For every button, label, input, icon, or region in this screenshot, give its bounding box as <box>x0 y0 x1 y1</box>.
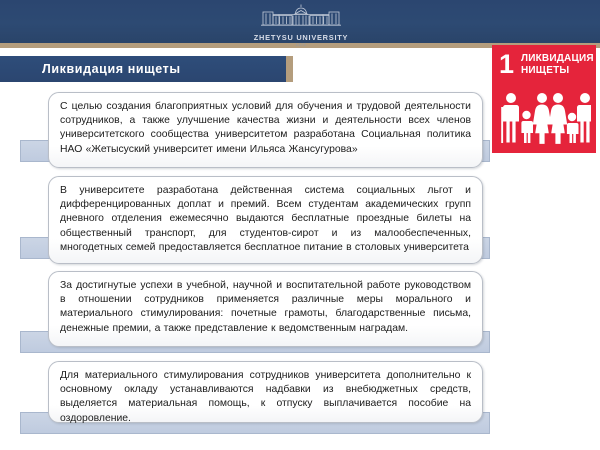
content-card: За достигнутые успехи в учебной, научной… <box>48 271 483 347</box>
content-card-text: Для материального стимулирования сотрудн… <box>60 369 471 426</box>
content-card-text: В университете разработана действенная с… <box>60 184 471 255</box>
university-logo: ZHETYSU UNIVERSITY 1972 <box>249 3 353 43</box>
title-bar-accent <box>286 56 293 82</box>
logo-year: 1972 <box>249 43 353 47</box>
sdg-label: ЛИКВИДАЦИЯ НИЩЕТЫ <box>521 53 594 76</box>
content-card: В университете разработана действенная с… <box>48 176 483 264</box>
logo-wordmark: ZHETYSU UNIVERSITY <box>249 33 353 42</box>
page-title: Ликвидация нищеты <box>42 62 181 76</box>
content-card: С целью создания благоприятных условий д… <box>48 92 483 168</box>
university-building-icon <box>249 3 353 33</box>
content-card-text: С целью создания благоприятных условий д… <box>60 100 471 157</box>
content-card: Для материального стимулирования сотрудн… <box>48 361 483 423</box>
sdg-goal-1-badge: 1 ЛИКВИДАЦИЯ НИЩЕТЫ <box>492 45 596 153</box>
sdg-number: 1 <box>499 51 514 78</box>
family-group-icon <box>497 91 591 147</box>
sdg-label-line-2: НИЩЕТЫ <box>521 65 569 76</box>
sdg-label-line-1: ЛИКВИДАЦИЯ <box>521 53 594 64</box>
slide-title-bar: Ликвидация нищеты <box>0 56 286 82</box>
content-card-text: За достигнутые успехи в учебной, научной… <box>60 279 471 336</box>
